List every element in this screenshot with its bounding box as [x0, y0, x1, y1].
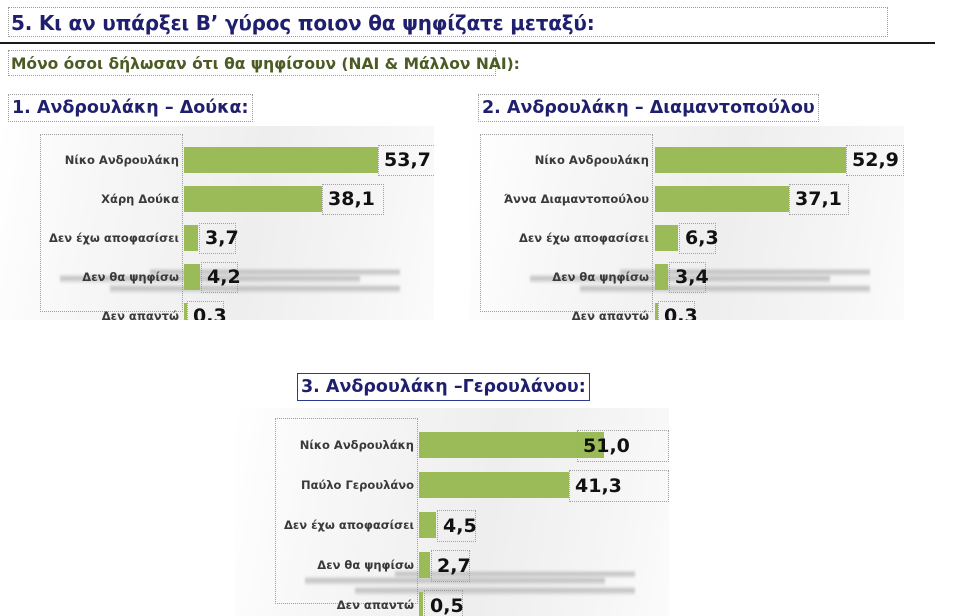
chart-3-category-label-4: Δεν απαντώ [275, 598, 414, 612]
chart-1-category-label-4: Δεν απαντώ [40, 309, 179, 320]
chart-1-title: 1. Ανδρουλάκη – Δούκα: [8, 94, 253, 122]
chart-3-bar-4 [419, 592, 423, 616]
chart-2-category-label-2: Δεν έχω αποφασίσει [480, 231, 649, 245]
chart-1-category-label-2: Δεν έχω αποφασίσει [32, 231, 179, 245]
chart-3-bar-1 [419, 472, 569, 498]
chart-2-value-0: 52,9 [846, 145, 904, 176]
chart-1-plot-area: Νίκο Ανδρουλάκη 53,7 Χάρη Δούκα 38,1 Δεν… [0, 126, 434, 320]
chart-2-category-label-1: Άννα Διαμαντοπούλου [480, 192, 649, 206]
chart-1-value-3: 4,2 [201, 262, 238, 293]
chart-1-value-1: 38,1 [322, 184, 384, 215]
chart-3-value-4: 0,5 [424, 590, 463, 616]
chart-3-plot-area: Νίκο Ανδρουλάκη 51,0 Παύλο Γερουλάνο 41,… [235, 408, 669, 616]
chart-1-category-label-1: Χάρη Δούκα [40, 192, 179, 206]
chart-1-bar-2 [184, 225, 198, 251]
chart-2-value-3: 3,4 [669, 262, 706, 293]
chart-1-category-label-0: Νίκο Ανδρουλάκη [40, 153, 179, 167]
chart-3-category-label-3: Δεν θα ψηφίσω [275, 558, 414, 572]
chart-3-value-3: 2,7 [431, 550, 470, 582]
page-title: 5. Κι αν υπάρξει Β’ γύρος ποιον θα ψηφίζ… [8, 7, 888, 37]
chart-3-value-1: 41,3 [569, 470, 669, 502]
chart-1-category-label-3: Δεν θα ψηφίσω [40, 270, 179, 284]
chart-2-block: 2. Ανδρουλάκη – Διαμαντοπούλου Νίκο Ανδρ… [470, 90, 910, 320]
chart-3-bar-2 [419, 512, 436, 538]
chart-1-bar-1 [184, 186, 322, 212]
chart-3-bar-3 [419, 552, 430, 578]
chart-1-value-4: 0,3 [187, 301, 224, 320]
chart-1-bar-0 [184, 147, 378, 173]
chart-3-category-label-1: Παύλο Γερουλάνο [275, 478, 414, 492]
chart-3-value-2: 4,5 [437, 510, 476, 542]
chart-1-bar-3 [184, 264, 200, 290]
chart-1-block: 1. Ανδρουλάκη – Δούκα: Νίκο Ανδρουλάκη 5… [0, 90, 440, 320]
chart-2-title: 2. Ανδρουλάκη – Διαμαντοπούλου [478, 94, 819, 122]
chart-2-category-label-3: Δεν θα ψηφίσω [480, 270, 649, 284]
chart-3-block: 3. Ανδρουλάκη –Γερουλάνου: Νίκο Ανδρουλά… [235, 370, 675, 616]
chart-2-bar-0 [655, 147, 846, 173]
chart-3-category-label-2: Δεν έχω αποφασίσει [267, 518, 414, 532]
chart-1-value-2: 3,7 [199, 223, 236, 254]
chart-2-value-1: 37,1 [789, 184, 849, 215]
chart-2-value-4: 0,3 [658, 301, 695, 320]
chart-2-bar-2 [655, 225, 678, 251]
chart-2-category-label-4: Δεν απαντώ [480, 309, 649, 320]
chart-2-value-2: 6,3 [679, 223, 716, 254]
chart-2-bar-1 [655, 186, 789, 212]
chart-3-value-0: 51,0 [577, 430, 669, 462]
chart-1-value-0: 53,7 [378, 145, 434, 176]
chart-2-plot-area: Νίκο Ανδρουλάκη 52,9 Άννα Διαμαντοπούλου… [470, 126, 904, 320]
title-divider [0, 42, 935, 44]
page-subtitle: Μόνο όσοι δήλωσαν ότι θα ψηφίσουν (ΝΑΙ &… [8, 50, 496, 76]
chart-3-title: 3. Ανδρουλάκη –Γερουλάνου: [297, 373, 590, 401]
chart-3-category-label-0: Νίκο Ανδρουλάκη [275, 438, 414, 452]
chart-2-bar-3 [655, 264, 668, 290]
chart-2-category-label-0: Νίκο Ανδρουλάκη [480, 153, 649, 167]
